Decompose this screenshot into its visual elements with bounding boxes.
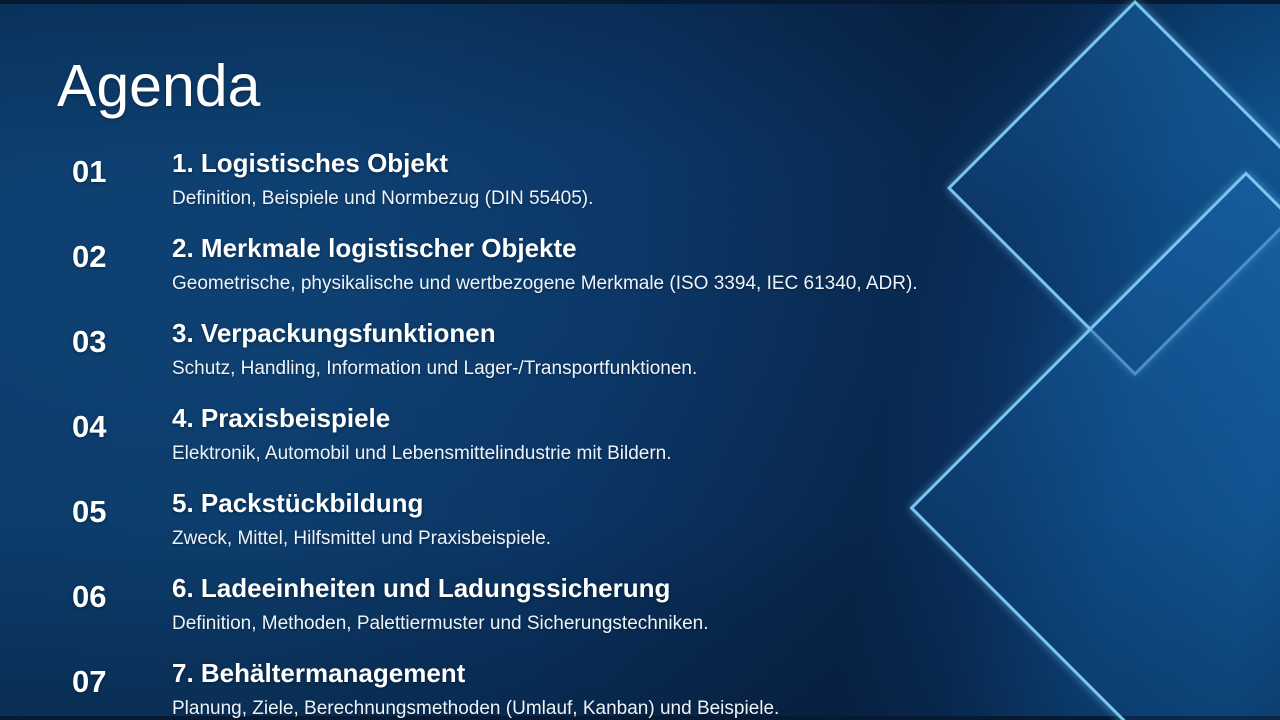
agenda-item-number: 02	[72, 241, 158, 272]
agenda-item-description: Zweck, Mittel, Hilfsmittel und Praxisbei…	[172, 528, 1060, 551]
agenda-item-body: 7. Behältermanagement Planung, Ziele, Be…	[172, 658, 1060, 720]
agenda-item-description: Geometrische, physikalische und wertbezo…	[172, 273, 1060, 296]
agenda-item-body: 2. Merkmale logistischer Objekte Geometr…	[172, 233, 1060, 296]
agenda-item-number: 06	[72, 581, 158, 612]
agenda-item-heading: 3. Verpackungsfunktionen	[172, 318, 1060, 349]
agenda-item-body: 3. Verpackungsfunktionen Schutz, Handlin…	[172, 318, 1060, 381]
agenda-item-number: 07	[72, 666, 158, 697]
agenda-item: 02 2. Merkmale logistischer Objekte Geom…	[0, 233, 1060, 318]
agenda-item-body: 5. Packstückbildung Zweck, Mittel, Hilfs…	[172, 488, 1060, 551]
agenda-item-body: 1. Logistisches Objekt Definition, Beisp…	[172, 148, 1060, 211]
agenda-item-number: 01	[72, 156, 158, 187]
agenda-item: 01 1. Logistisches Objekt Definition, Be…	[0, 148, 1060, 233]
agenda-item-body: 4. Praxisbeispiele Elektronik, Automobil…	[172, 403, 1060, 466]
agenda-item: 07 7. Behältermanagement Planung, Ziele,…	[0, 658, 1060, 720]
agenda-item-number: 04	[72, 411, 158, 442]
agenda-list: 01 1. Logistisches Objekt Definition, Be…	[0, 148, 1060, 720]
agenda-item-description: Planung, Ziele, Berechnungsmethoden (Uml…	[172, 698, 1060, 720]
agenda-item-heading: 6. Ladeeinheiten und Ladungssicherung	[172, 573, 1060, 604]
agenda-item: 05 5. Packstückbildung Zweck, Mittel, Hi…	[0, 488, 1060, 573]
agenda-item-heading: 4. Praxisbeispiele	[172, 403, 1060, 434]
page-title: Agenda	[57, 57, 260, 116]
agenda-slide: Agenda 01 1. Logistisches Objekt Definit…	[0, 0, 1280, 720]
agenda-item-number: 05	[72, 496, 158, 527]
agenda-item-heading: 7. Behältermanagement	[172, 658, 1060, 689]
agenda-item-body: 6. Ladeeinheiten und Ladungssicherung De…	[172, 573, 1060, 636]
agenda-item-description: Schutz, Handling, Information und Lager-…	[172, 358, 1060, 381]
agenda-item-heading: 5. Packstückbildung	[172, 488, 1060, 519]
agenda-item-number: 03	[72, 326, 158, 357]
agenda-item-heading: 2. Merkmale logistischer Objekte	[172, 233, 1060, 264]
agenda-item: 03 3. Verpackungsfunktionen Schutz, Hand…	[0, 318, 1060, 403]
agenda-item-description: Definition, Methoden, Palettiermuster un…	[172, 613, 1060, 636]
agenda-item-heading: 1. Logistisches Objekt	[172, 148, 1060, 179]
agenda-item-description: Elektronik, Automobil und Lebensmittelin…	[172, 443, 1060, 466]
agenda-item-description: Definition, Beispiele und Normbezug (DIN…	[172, 188, 1060, 211]
agenda-item: 06 6. Ladeeinheiten und Ladungssicherung…	[0, 573, 1060, 658]
agenda-item: 04 4. Praxisbeispiele Elektronik, Automo…	[0, 403, 1060, 488]
